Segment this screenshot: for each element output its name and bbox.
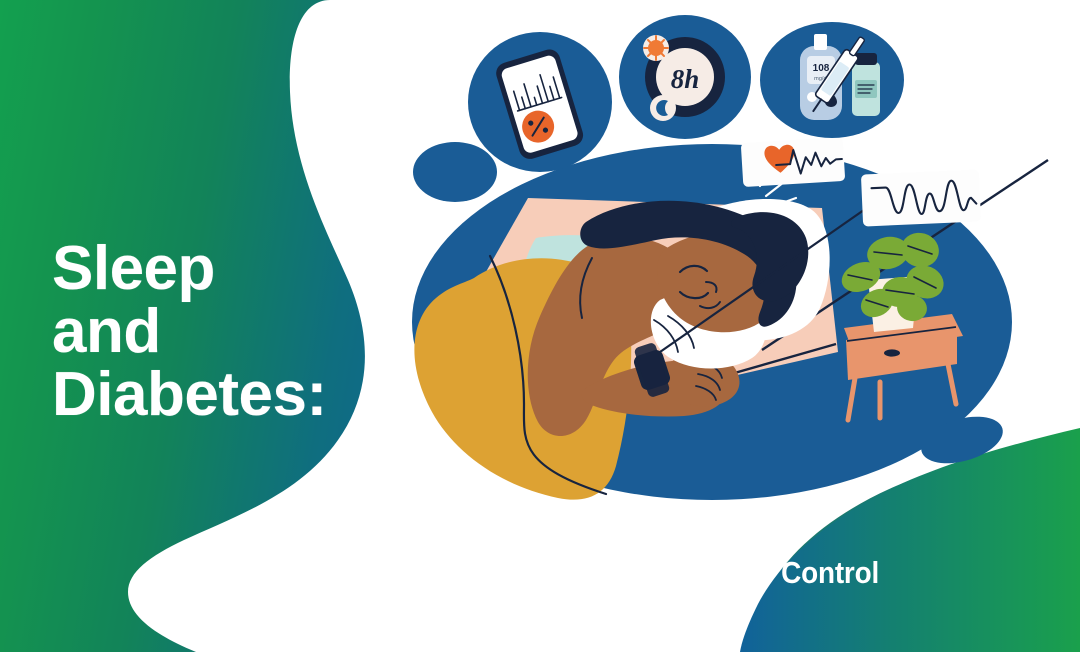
headline-line-1: Sleep [52,237,412,300]
phone-chart-badge[interactable] [468,32,612,172]
glucometer-badge[interactable]: 108 mg/dl [760,22,904,138]
glucometer-reading: 108 [813,63,830,74]
page-title: Sleep and Diabetes: [52,237,412,427]
sleep-hours-value: 8h [671,64,700,94]
nightstand-handle [884,349,900,356]
headline-line-3: Diabetes: [52,363,412,426]
sleep-hours-badge[interactable]: 8h [619,15,751,139]
blue-blob-small-left [413,142,497,202]
page-subtitle: How Quality Rest Can Improve Blood Sugar… [46,556,1034,591]
sleep-wave-card-bg [861,169,981,226]
headline-line-2: and [52,300,412,363]
heart-rate-card[interactable] [741,137,845,187]
sleep-wave-card[interactable] [861,169,981,226]
banner-root: 8h 108 mg/dl [0,0,1080,652]
glucometer-strip [814,34,827,50]
